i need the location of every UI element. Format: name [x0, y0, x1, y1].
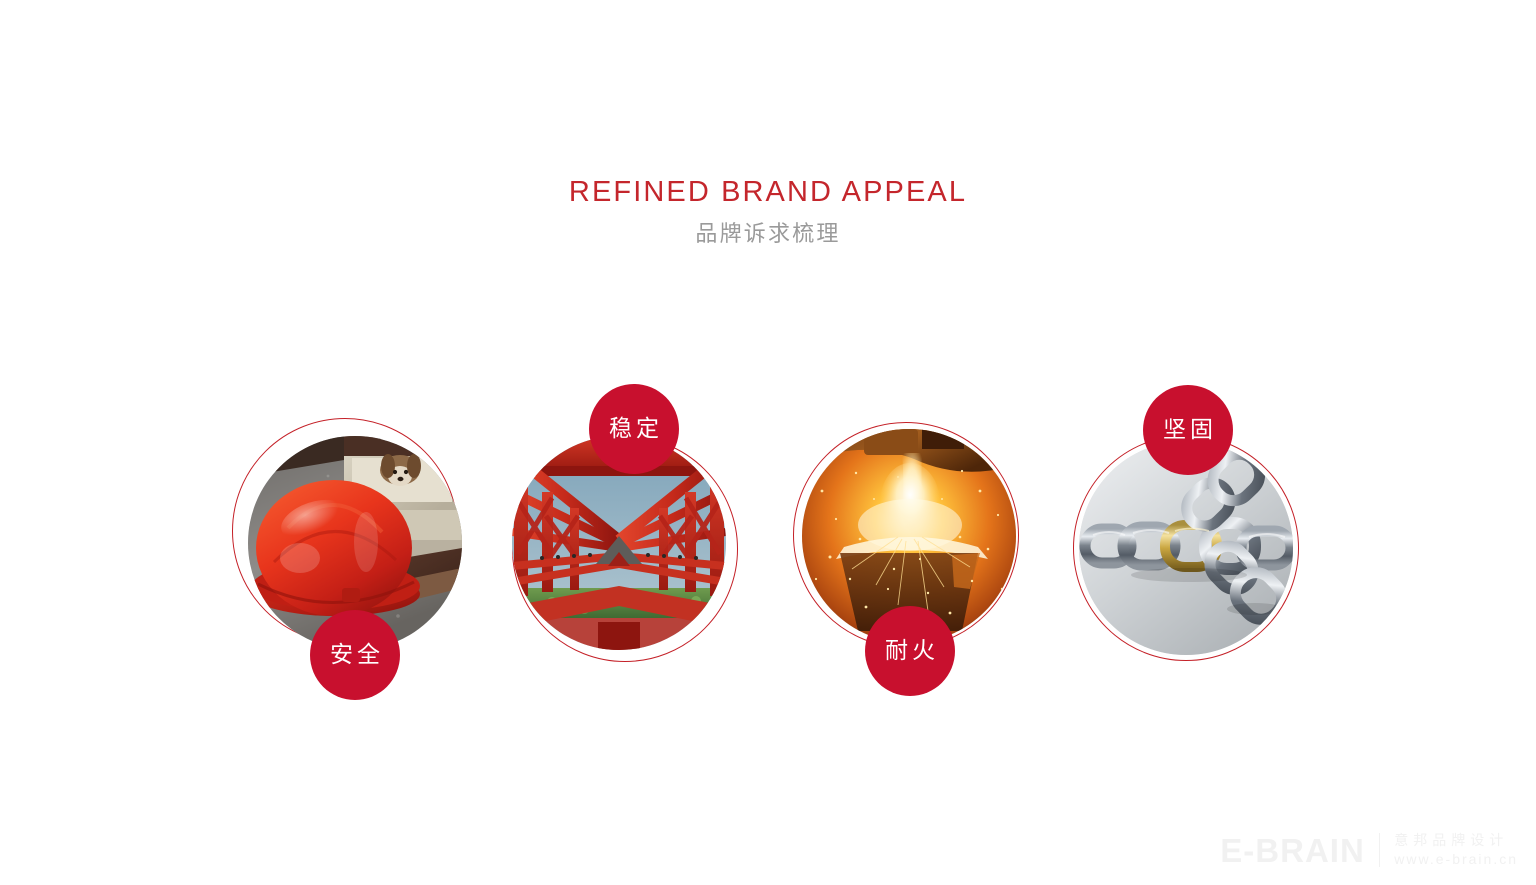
watermark-url: www.e-brain.cn — [1394, 852, 1518, 866]
appeal-item-strength[interactable]: 坚固 — [1073, 435, 1313, 735]
appeal-item-safety[interactable]: 安全 — [232, 418, 472, 718]
badge-stability[interactable]: 稳定 — [589, 384, 679, 474]
watermark-company-cn: 意邦品牌设计 — [1394, 834, 1518, 848]
watermark-brand: E-BRAIN — [1220, 834, 1365, 867]
slide-canvas: REFINED BRAND APPEAL 品牌诉求梳理 — [0, 0, 1536, 885]
watermark: E-BRAIN 意邦品牌设计 www.e-brain.cn — [1220, 833, 1518, 867]
badge-label-safety: 安全 — [326, 644, 384, 667]
appeal-item-fire-resistance[interactable]: 耐火 — [793, 422, 1033, 722]
appeal-items-row: 安全 — [0, 0, 1536, 885]
badge-label-strength: 坚固 — [1159, 419, 1217, 442]
watermark-text-group: 意邦品牌设计 www.e-brain.cn — [1394, 834, 1518, 866]
badge-fire-resistance[interactable]: 耐火 — [865, 606, 955, 696]
watermark-divider — [1379, 833, 1381, 867]
appeal-item-stability[interactable]: 稳定 — [512, 436, 752, 736]
badge-label-stability: 稳定 — [605, 418, 663, 441]
badge-strength[interactable]: 坚固 — [1143, 385, 1233, 475]
badge-safety[interactable]: 安全 — [310, 610, 400, 700]
badge-label-fire-resistance: 耐火 — [881, 640, 939, 663]
